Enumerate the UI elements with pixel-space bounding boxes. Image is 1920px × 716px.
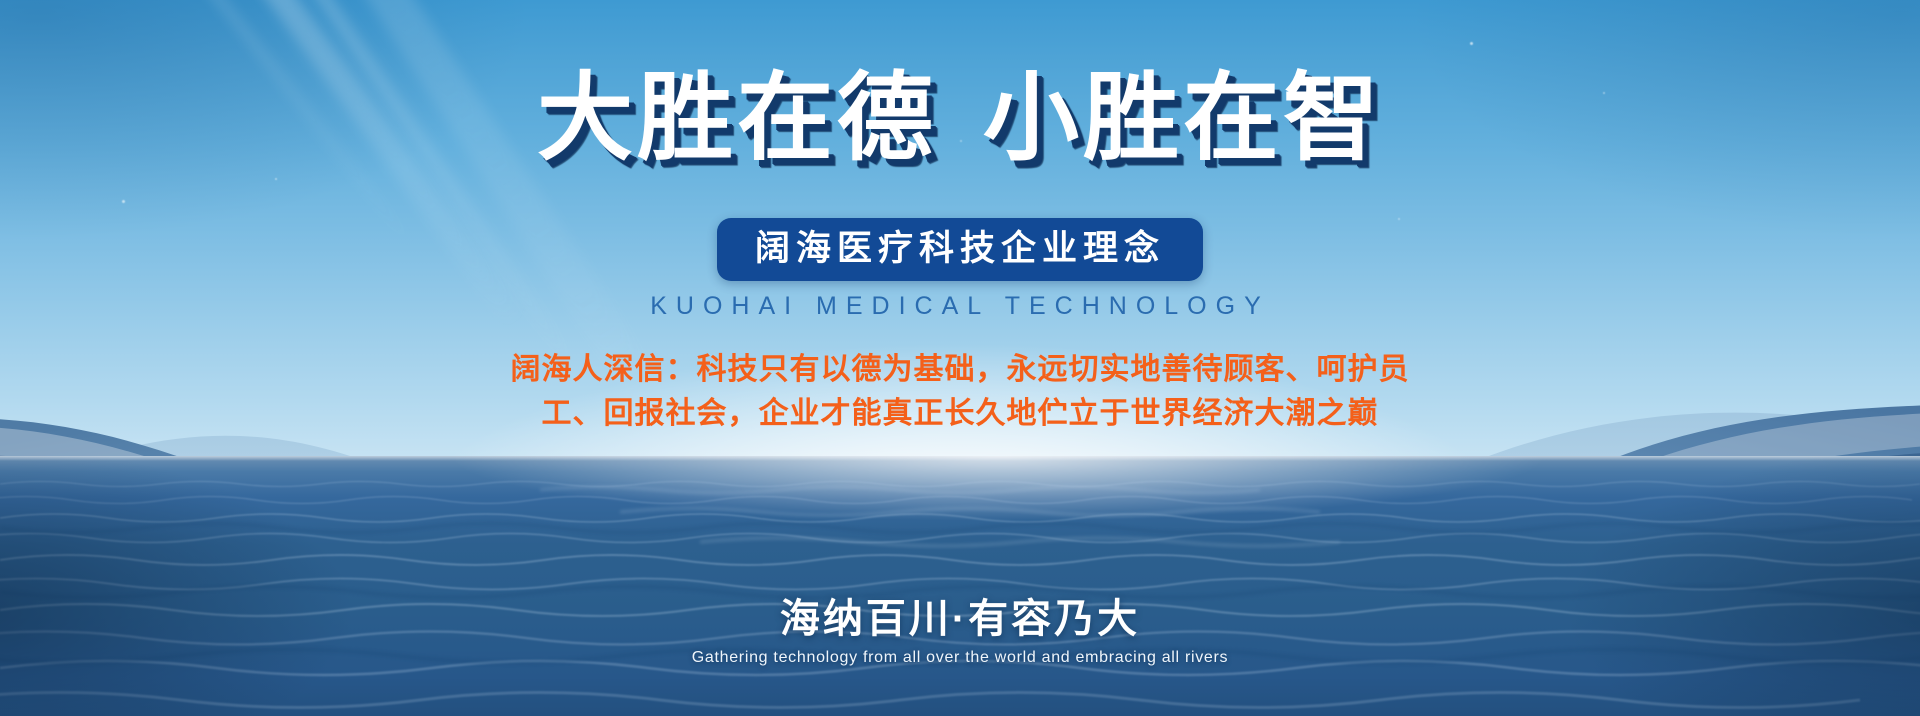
philosophy-paragraph: 阔海人深信：科技只有以德为基础，永远切实地善待顾客、呵护员 工、回报社会，企业才… <box>0 348 1920 436</box>
headline-left: 大胜在德 <box>537 65 937 172</box>
english-subtitle: KUOHAI MEDICAL TECHNOLOGY <box>0 292 1920 321</box>
paragraph-line-1: 阔海人深信：科技只有以德为基础，永远切实地善待顾客、呵护员 <box>0 348 1920 392</box>
headline-right: 小胜在智 <box>983 65 1383 172</box>
footer-slogan-en: Gathering technology from all over the w… <box>0 649 1920 667</box>
badge-container: 阔海医疗科技企业理念 <box>0 218 1920 281</box>
banner-content: 大胜在德小胜在智 阔海医疗科技企业理念 KUOHAI MEDICAL TECHN… <box>0 0 1920 716</box>
footer-slogan-cn: 海纳百川·有容乃大 <box>0 595 1920 643</box>
philosophy-badge: 阔海医疗科技企业理念 <box>717 218 1203 281</box>
footer-slogan: 海纳百川·有容乃大 Gathering technology from all … <box>0 595 1920 667</box>
paragraph-line-2: 工、回报社会，企业才能真正长久地伫立于世界经济大潮之巅 <box>0 392 1920 436</box>
page-title: 大胜在德小胜在智 <box>0 40 1920 179</box>
hero-banner: 大胜在德小胜在智 阔海医疗科技企业理念 KUOHAI MEDICAL TECHN… <box>0 0 1920 716</box>
